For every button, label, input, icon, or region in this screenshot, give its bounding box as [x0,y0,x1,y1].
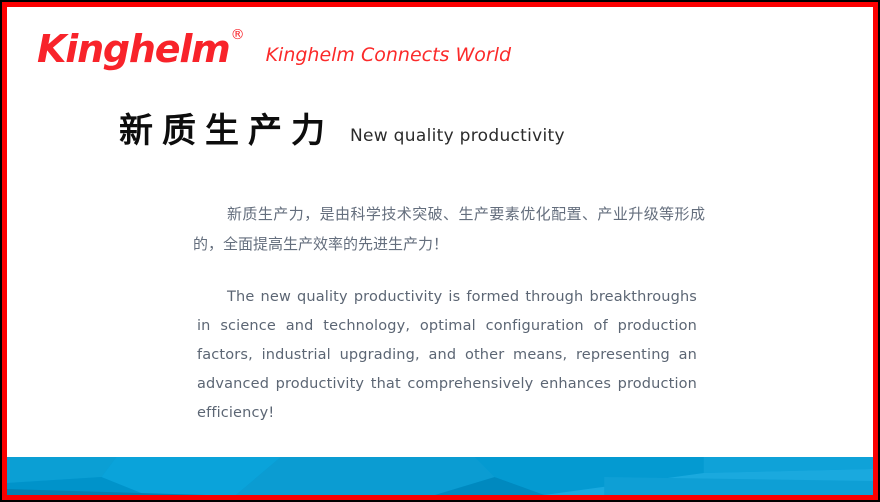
registered-trademark-icon: ® [231,28,245,42]
slide-content-area: Kinghelm ® Kinghelm Connects World 新质生产力… [7,7,873,495]
slide-canvas: Kinghelm ® Kinghelm Connects World 新质生产力… [0,0,880,502]
logo-wordmark: Kinghelm [37,27,230,71]
kinghelm-logo: Kinghelm ® [37,29,230,69]
page-title-english: New quality productivity [350,125,565,151]
brand-tagline: Kinghelm Connects World [266,44,511,69]
slide-red-border: Kinghelm ® Kinghelm Connects World 新质生产力… [2,2,878,500]
footer-decorative-band [7,457,873,495]
slide-title-block: 新质生产力 New quality productivity [119,111,565,151]
page-title-chinese: 新质生产力 [119,111,334,151]
brand-header: Kinghelm ® Kinghelm Connects World [37,21,511,69]
body-paragraph-chinese: 新质生产力，是由科学技术突破、生产要素优化配置、产业升级等形成的，全面提高生产效… [193,199,705,259]
footer-band-facets [7,457,873,495]
body-paragraph-english: The new quality productivity is formed t… [197,283,697,428]
